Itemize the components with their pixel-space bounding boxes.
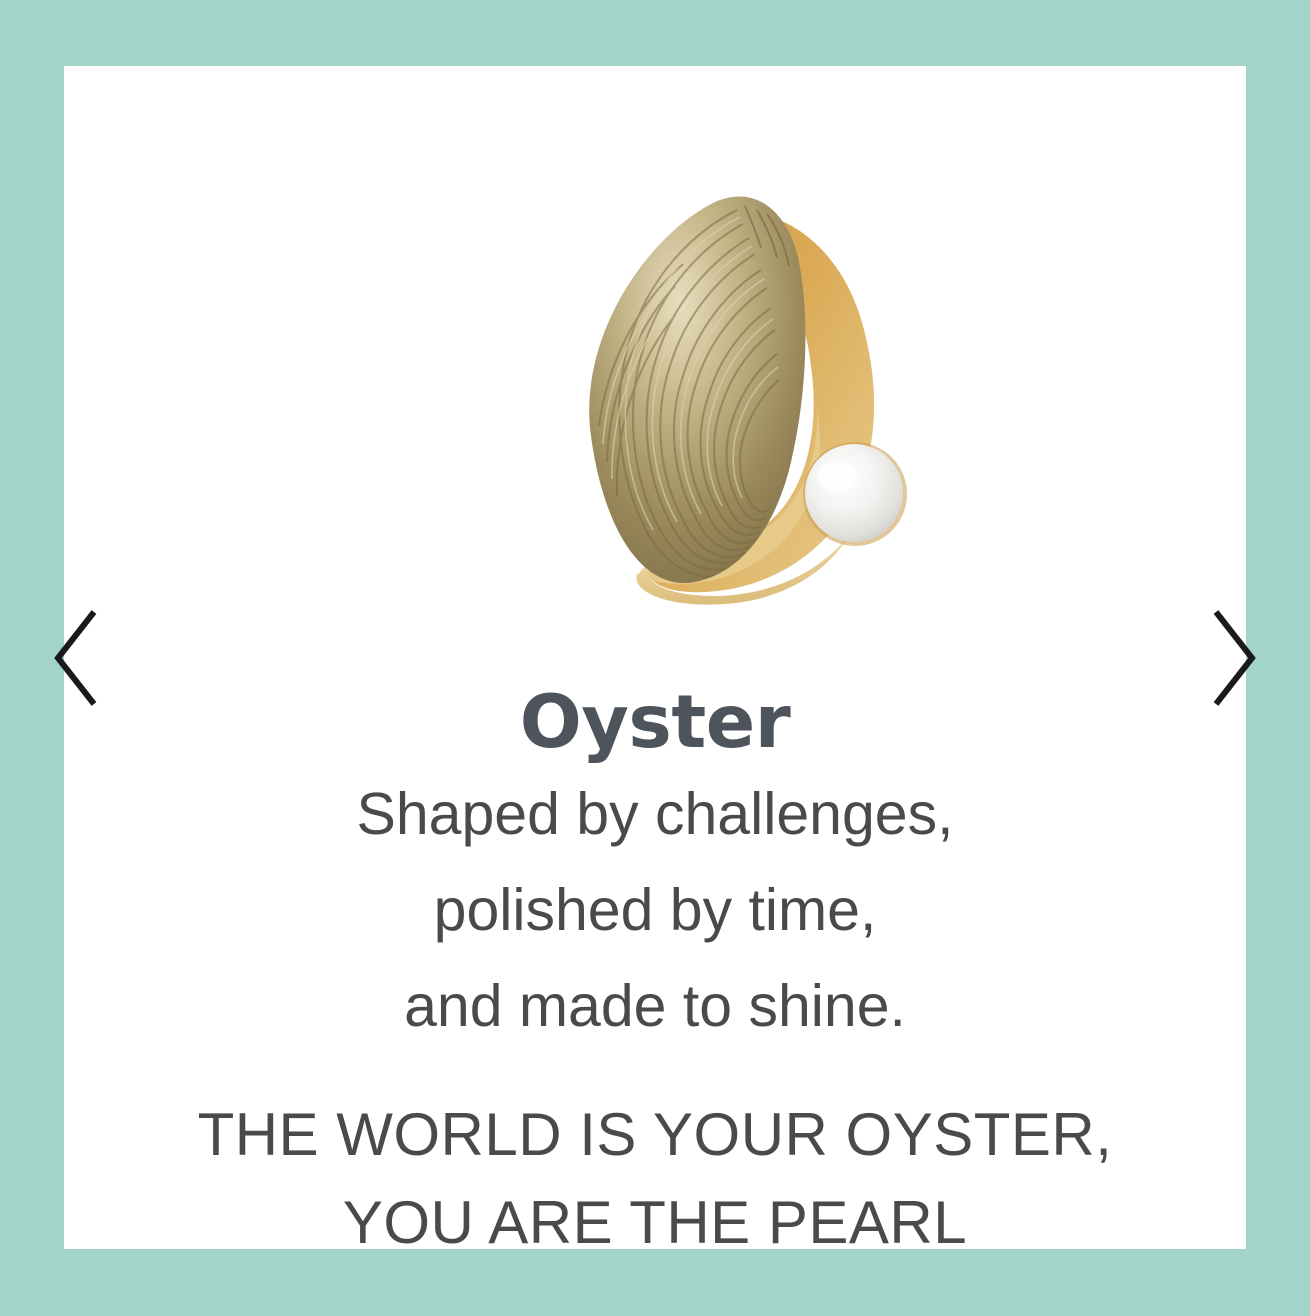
oyster-with-pearl-illustration	[499, 176, 939, 606]
motto-line-2: YOU ARE THE PEARL	[64, 1179, 1246, 1267]
slide-stage: Oyster Shaped by challenges, polished by…	[0, 0, 1310, 1316]
pearl	[803, 442, 907, 546]
oyster-card: Oyster Shaped by challenges, polished by…	[64, 66, 1246, 1249]
page-title: Oyster	[64, 686, 1246, 759]
chevron-left-icon	[50, 606, 106, 710]
tagline-line-2: polished by time,	[64, 862, 1246, 958]
motto: THE WORLD IS YOUR OYSTER, YOU ARE THE PE…	[64, 1091, 1246, 1267]
chevron-right-icon	[1204, 606, 1260, 710]
previous-slide-button[interactable]	[50, 606, 106, 710]
next-slide-button[interactable]	[1204, 606, 1260, 710]
oyster-illustration-svg	[499, 176, 939, 606]
tagline: Shaped by challenges, polished by time, …	[64, 766, 1246, 1054]
tagline-line-3: and made to shine.	[64, 958, 1246, 1054]
tagline-line-1: Shaped by challenges,	[64, 766, 1246, 862]
motto-line-1: THE WORLD IS YOUR OYSTER,	[64, 1091, 1246, 1179]
